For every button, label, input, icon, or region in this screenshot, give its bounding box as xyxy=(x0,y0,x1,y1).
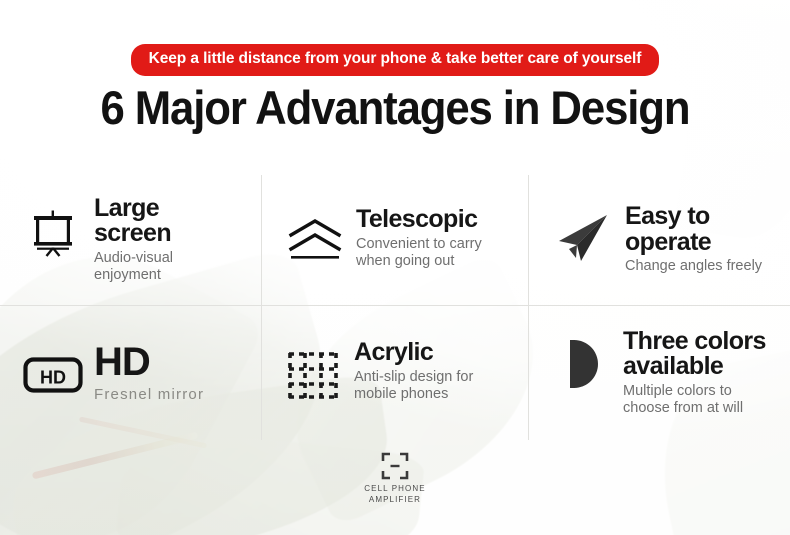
feature-title: Acrylic xyxy=(354,340,473,366)
feature-title: HD xyxy=(94,342,204,383)
feature-title: Large screen xyxy=(94,196,173,247)
feature-title: Telescopic xyxy=(356,207,482,233)
double-chevron-up-icon xyxy=(284,211,346,273)
feature-subtitle: Anti-slip design for mobile phones xyxy=(354,369,473,403)
dashed-grid-icon xyxy=(282,344,344,406)
tagline-banner: Keep a little distance from your phone &… xyxy=(131,44,660,76)
feature-subtitle: Multiple colors to choose from at will xyxy=(623,383,766,417)
feature-subtitle: Convenient to carry when going out xyxy=(356,236,482,270)
projector-screen-icon xyxy=(22,200,84,262)
feature-cell-three-colors: Three colors available Multiple colors t… xyxy=(528,305,790,440)
feature-title: Easy to operate xyxy=(625,204,762,255)
feature-subtitle: Audio-visual enjoyment xyxy=(94,250,173,284)
focus-frame-icon xyxy=(381,452,409,480)
feature-cell-acrylic: Acrylic Anti-slip design for mobile phon… xyxy=(261,305,528,440)
feature-subtitle: Change angles freely xyxy=(625,258,762,275)
brand-logo: CELL PHONE AMPLIFIER xyxy=(0,452,790,506)
feature-cell-large-screen: Large screen Audio-visual enjoyment xyxy=(0,175,261,305)
feature-subtitle: Fresnel mirror xyxy=(94,386,204,404)
infographic-page: Keep a little distance from your phone &… xyxy=(0,0,790,535)
paper-plane-icon xyxy=(553,208,615,270)
banner-row: Keep a little distance from your phone &… xyxy=(0,44,790,76)
features-grid: Large screen Audio-visual enjoyment xyxy=(0,175,790,440)
feature-cell-easy-to-operate: Easy to operate Change angles freely xyxy=(528,175,790,305)
brand-logo-text: CELL PHONE AMPLIFIER xyxy=(364,484,425,506)
svg-text:HD: HD xyxy=(40,368,66,388)
feature-cell-telescopic: Telescopic Convenient to carry when goin… xyxy=(261,175,528,305)
feature-cell-hd: HD HD Fresnel mirror xyxy=(0,305,261,440)
feature-title: Three colors available xyxy=(623,329,766,380)
hd-badge-icon: HD xyxy=(22,344,84,406)
half-circle-icon xyxy=(551,333,613,395)
page-title: 6 Major Advantages in Design xyxy=(28,82,763,135)
